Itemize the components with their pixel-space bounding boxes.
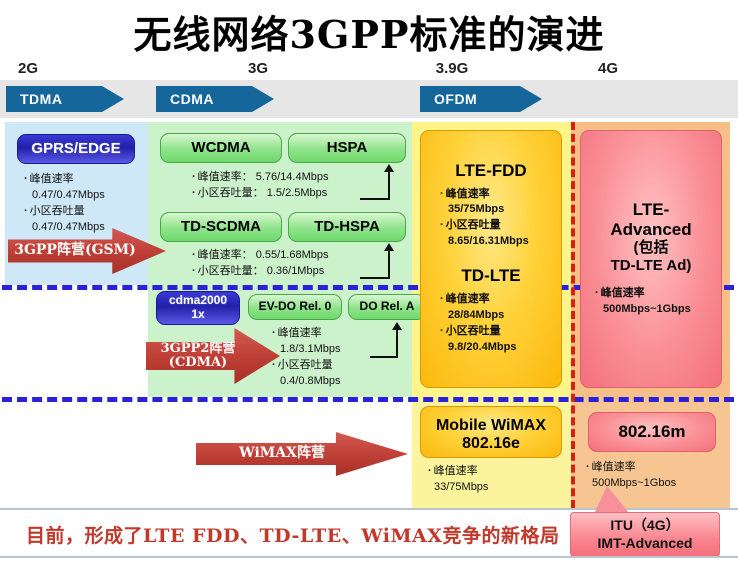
box-cdma2000[interactable]: cdma2000 1x [156,291,240,325]
tech-arrow-ofdm-label: OFDM [434,91,477,107]
camp-arrow-3gpp-gsm-label: 3GPP阵营(GSM) [14,243,136,258]
box-hspa-label: HSPA [327,139,368,156]
detail-lte-adv-peak-label: 峰值速率 [595,286,713,302]
box-lte-advanced-line4: TD-LTE Ad) [611,257,692,274]
detail-gprs-cell-value: 0.47/0.47Mbps [24,220,105,236]
detail-gprs-peak-label: 峰值速率 [24,172,105,188]
box-lte-fdd-label: LTE-FDD [455,161,526,181]
detail-gprs-cell-label: 小区吞吐量 [24,204,105,220]
generation-label-3g: 3G [230,60,286,77]
box-gprs-edge-label: GPRS/EDGE [31,140,120,157]
detail-td-lte-cell-value: 9.8/20.4Mbps [440,340,550,356]
box-mobile-wimax[interactable]: Mobile WiMAX 802.16e [420,406,562,458]
detail-wcdma-hspa: 峰值速率： 5.76/14.4Mbps 小区吞吐量： 1.5/2.5Mbps [192,170,329,202]
box-gprs-edge[interactable]: GPRS/EDGE [17,134,135,164]
divider-39g-4g [571,122,575,508]
box-wcdma-label: WCDMA [191,139,250,156]
box-lte-advanced-line2: Advanced [610,220,691,240]
detail-evdo-cell-value: 0.4/0.8Mbps [272,374,341,390]
box-evdo-rel0[interactable]: EV-DO Rel. 0 [248,294,342,320]
box-lte-group[interactable]: LTE-FDD 峰值速率 35/75Mbps 小区吞吐量 8.65/16.31M… [420,130,562,388]
box-td-hspa[interactable]: TD-HSPA [288,212,406,242]
box-hspa[interactable]: HSPA [288,133,406,163]
tech-arrow-cdma: CDMA [156,86,274,112]
camp-arrow-3gpp2-line1: 3GPP2阵营 [161,342,236,356]
itu-callout-line2: IMT-Advanced [598,535,693,553]
tech-arrow-cdma-label: CDMA [170,91,214,107]
detail-tdscdma-cell: 小区吞吐量： 0.36/1Mbps [192,264,329,280]
detail-gprs-peak-value: 0.47/0.47Mbps [24,188,105,204]
box-lte-advanced-line3: (包括 [634,239,669,256]
box-mobile-wimax-line2: 802.16e [462,435,520,453]
detail-lte-adv-peak-value: 500Mbps~1Gbps [595,302,713,318]
detail-td-lte-cell-label: 小区吞吐量 [440,324,550,340]
box-do-rela[interactable]: DO Rel. A [348,294,426,320]
box-lte-advanced-line1: LTE- [633,200,670,220]
tech-arrow-tdma-label: TDMA [20,91,62,107]
box-802-16m-label: 802.16m [618,422,685,442]
box-cdma2000-label-line1: cdma2000 [169,294,227,308]
divider-3gpp2-wimax [2,397,734,402]
camp-arrow-wimax-label: WiMAX阵营 [239,446,325,461]
detail-wcdma-cell: 小区吞吐量： 1.5/2.5Mbps [192,186,329,202]
detail-gprs: 峰值速率 0.47/0.47Mbps 小区吞吐量 0.47/0.47Mbps [24,172,105,236]
detail-wcdma-peak: 峰值速率： 5.76/14.4Mbps [192,170,329,186]
box-lte-advanced[interactable]: LTE- Advanced (包括 TD-LTE Ad) 峰值速率 500Mbp… [580,130,722,388]
detail-lte-fdd: 峰值速率 35/75Mbps 小区吞吐量 8.65/16.31Mbps [432,187,550,251]
box-mobile-wimax-line1: Mobile WiMAX [436,417,546,435]
box-do-rela-label: DO Rel. A [360,300,415,314]
page-title: 无线网络3GPP标准的演进 [0,4,738,59]
box-wcdma[interactable]: WCDMA [160,133,282,163]
tech-arrow-tdma: TDMA [6,86,124,112]
detail-lte-fdd-peak-value: 35/75Mbps [440,202,550,218]
box-802-16m[interactable]: 802.16m [588,412,716,452]
camp-arrow-3gpp2-line2: (CDMA) [169,356,227,370]
detail-wimax-16e: 峰值速率 33/75Mbps [428,464,488,496]
detail-wimax-16e-peak-value: 33/75Mbps [428,480,488,496]
connector-arrow-td-hspa [360,243,390,279]
detail-tdscdma-peak: 峰值速率： 0.55/1.68Mbps [192,248,329,264]
camp-arrow-wimax: WiMAX阵营 [196,432,408,476]
footer-summary-text: 目前，形成了LTE FDD、TD-LTE、WiMAX竞争的新格局 [26,521,560,548]
connector-arrow-do-rela [370,322,398,358]
connector-arrow-hspa [360,164,390,200]
slide-canvas: 无线网络3GPP标准的演进 2G 3G 3.9G 4G TDMA CDMA OF… [0,0,738,562]
generation-label-4g: 4G [580,60,636,77]
box-cdma2000-label-line2: 1x [191,308,204,322]
detail-evdo-cell-label: 小区吞吐量 [272,358,341,374]
detail-evdo: 峰值速率 1.8/3.1Mbps 小区吞吐量 0.4/0.8Mbps [272,326,341,390]
itu-callout-line1: ITU（4G） [610,517,679,535]
detail-wimax-16m-peak-label: 峰值速率 [586,460,676,476]
detail-td-lte-peak-value: 28/84Mbps [440,308,550,324]
box-td-scdma[interactable]: TD-SCDMA [160,212,282,242]
footer-bottom-rule [0,556,738,558]
box-td-lte-label: TD-LTE [461,266,520,286]
detail-lte-advanced: 峰值速率 500Mbps~1Gbps [589,286,713,318]
detail-td-lte: 峰值速率 28/84Mbps 小区吞吐量 9.8/20.4Mbps [432,292,550,356]
generation-label-39g: 3.9G [424,60,480,77]
detail-td-lte-peak-label: 峰值速率 [440,292,550,308]
box-td-hspa-label: TD-HSPA [314,218,380,235]
detail-td-scdma-hspa: 峰值速率： 0.55/1.68Mbps 小区吞吐量： 0.36/1Mbps [192,248,329,280]
detail-lte-fdd-cell-label: 小区吞吐量 [440,218,550,234]
detail-evdo-peak-value: 1.8/3.1Mbps [272,342,341,358]
generation-label-2g: 2G [0,60,56,77]
itu-callout-tail [594,486,630,514]
detail-lte-fdd-cell-value: 8.65/16.31Mbps [440,234,550,250]
tech-arrow-ofdm: OFDM [420,86,542,112]
detail-wimax-16e-peak-label: 峰值速率 [428,464,488,480]
box-td-scdma-label: TD-SCDMA [181,218,261,235]
box-evdo-rel0-label: EV-DO Rel. 0 [259,300,332,314]
detail-evdo-peak-label: 峰值速率 [272,326,341,342]
detail-lte-fdd-peak-label: 峰值速率 [440,187,550,203]
itu-callout[interactable]: ITU（4G） IMT-Advanced [570,512,720,557]
